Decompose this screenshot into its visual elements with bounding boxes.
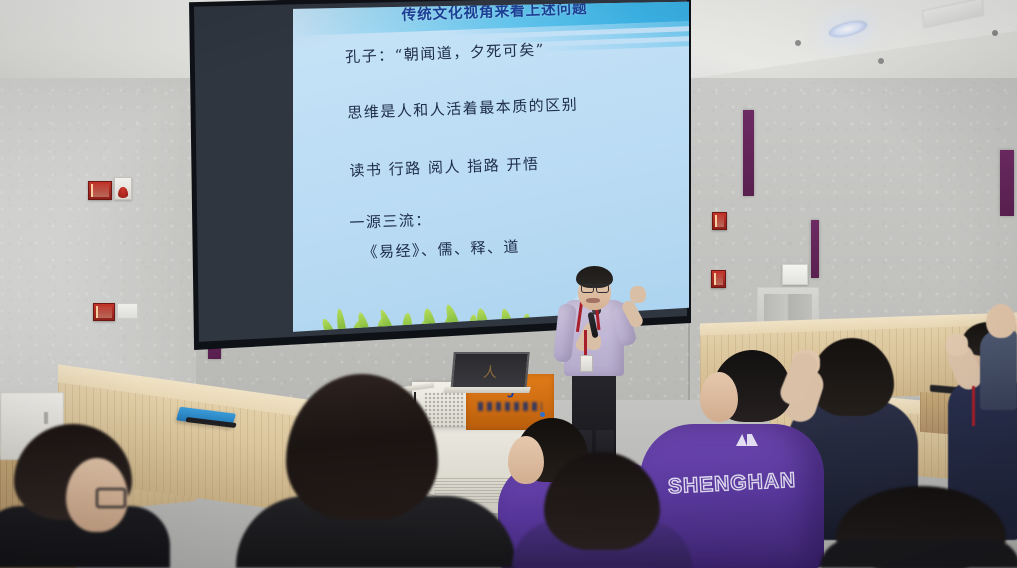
fire-alarm-panel-icon xyxy=(711,270,726,288)
slide-line: 思维是人和人活着最本质的区别 xyxy=(347,93,579,123)
speaker-right-hand xyxy=(630,286,646,303)
speaker-mouth xyxy=(586,298,600,303)
slide-decor-swoosh xyxy=(535,41,689,52)
eyeglasses-icon xyxy=(96,488,126,508)
cabinet-handle[interactable] xyxy=(44,412,48,424)
slide-line: 《易经》、儒、释、道 xyxy=(362,236,520,263)
wall-accent-stripe xyxy=(1000,150,1014,216)
id-badge xyxy=(580,355,593,372)
eyeglasses-icon xyxy=(596,284,609,293)
ceiling-sprinkler-icon xyxy=(795,40,801,46)
fire-hose-cabinet-icon xyxy=(117,303,138,319)
wall-accent-stripe xyxy=(743,110,754,196)
presentation-laptop-base[interactable] xyxy=(443,387,531,393)
ceiling-sprinkler-icon xyxy=(992,30,998,36)
slide-line: 孔子：“朝闻道，夕死可矣” xyxy=(345,39,545,67)
eyeglasses-icon xyxy=(581,284,594,293)
ceiling-sprinkler-icon xyxy=(878,58,884,64)
presentation-laptop-screen[interactable]: 人 xyxy=(450,352,529,392)
lectern-indicator-led xyxy=(540,412,545,417)
slide-line: 一源三流： xyxy=(349,209,432,233)
fire-alarm-panel-icon xyxy=(93,303,115,321)
wall-accent-stripe xyxy=(811,220,819,278)
institution-name-plate xyxy=(478,402,542,411)
fire-alarm-bell-icon xyxy=(114,177,132,200)
lecture-hall-scene: 传统文化视角来看上述问题 孔子：“朝闻道，夕死可矣” 思维是人和人活着最本质的区… xyxy=(0,0,1017,568)
slide-line: 读书 行路 阅人 指路 开悟 xyxy=(349,153,540,181)
fire-alarm-panel-icon xyxy=(712,212,727,230)
eyeglasses-bridge-icon xyxy=(592,287,596,288)
exit-sign-icon xyxy=(782,264,808,285)
lanyard-strap xyxy=(584,330,587,358)
fire-alarm-panel-icon xyxy=(88,181,112,200)
